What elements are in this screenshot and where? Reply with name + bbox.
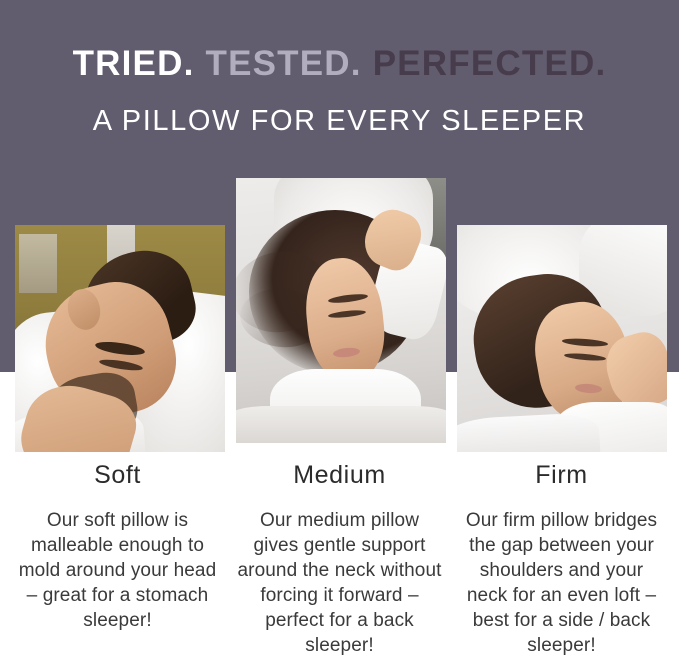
photo-medium-sleeper bbox=[236, 178, 446, 443]
duvet-shape bbox=[236, 406, 446, 443]
column-firm: Firm Our firm pillow bridges the gap bet… bbox=[449, 458, 674, 658]
column-soft: Soft Our soft pillow is malleable enough… bbox=[5, 458, 230, 633]
photo-firm-scene bbox=[457, 225, 667, 452]
photo-soft-scene bbox=[15, 225, 225, 452]
headline-part-tried: TRIED. bbox=[73, 44, 195, 83]
tier-description-soft: Our soft pillow is malleable enough to m… bbox=[5, 508, 230, 633]
tier-description-firm: Our firm pillow bridges the gap between … bbox=[449, 508, 674, 658]
headline-part-perfected: PERFECTED. bbox=[373, 44, 607, 83]
tier-description-medium: Our medium pillow gives gentle support a… bbox=[227, 508, 452, 658]
photo-firm-sleeper bbox=[457, 225, 667, 452]
column-medium: Medium Our medium pillow gives gentle su… bbox=[227, 458, 452, 658]
tier-label-firm: Firm bbox=[449, 458, 674, 492]
wall-panel-left bbox=[19, 234, 57, 293]
tier-label-medium: Medium bbox=[227, 458, 452, 492]
photo-soft-sleeper bbox=[15, 225, 225, 452]
photo-medium-scene bbox=[236, 178, 446, 443]
subheadline: A PILLOW FOR EVERY SLEEPER bbox=[0, 103, 679, 139]
tier-label-soft: Soft bbox=[5, 458, 230, 492]
headline-part-tested: TESTED. bbox=[206, 44, 362, 83]
headline: TRIED.TESTED.PERFECTED. bbox=[0, 43, 679, 85]
